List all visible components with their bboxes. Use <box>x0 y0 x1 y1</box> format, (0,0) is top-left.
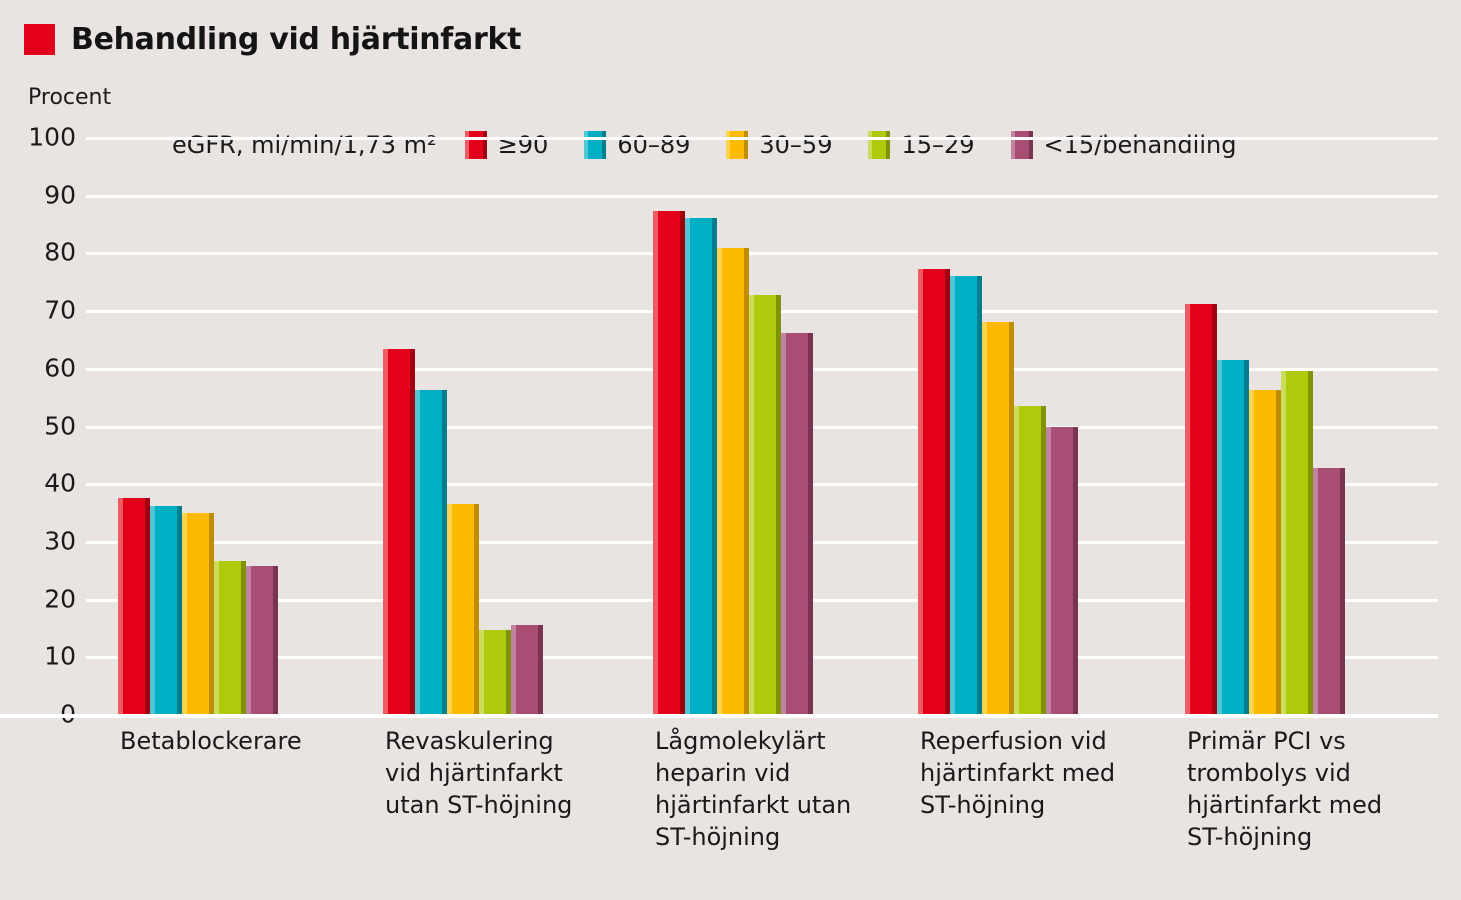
bar-shadow-edge <box>808 333 813 714</box>
x-axis-category-label: Reperfusion vidhjärtinfarkt medST-höjnin… <box>920 726 1150 822</box>
bar[interactable] <box>1313 468 1345 714</box>
bar[interactable] <box>447 504 479 714</box>
page-title: Behandling vid hjärtinfarkt <box>71 22 521 57</box>
bar-highlight-edge <box>118 498 123 714</box>
bar[interactable] <box>214 561 246 714</box>
bar[interactable] <box>511 625 543 714</box>
bar[interactable] <box>479 630 511 714</box>
x-axis-label-line: hjärtinfarkt med <box>1187 790 1437 822</box>
x-axis-label-line: trombolys vid <box>1187 758 1437 790</box>
y-axis-tick-label: 90 <box>6 180 76 209</box>
bar[interactable] <box>918 269 950 714</box>
bar-highlight-edge <box>1313 468 1318 714</box>
bar[interactable] <box>182 513 214 714</box>
bar-highlight-edge <box>950 276 955 714</box>
y-axis-tick-label: 10 <box>6 642 76 671</box>
bar-highlight-edge <box>415 390 420 714</box>
chart-header: Behandling vid hjärtinfarkt <box>24 22 521 57</box>
bar-group <box>653 137 813 714</box>
bar-group <box>1185 137 1345 714</box>
bar-shadow-edge <box>273 566 278 714</box>
bar-group <box>383 137 543 714</box>
bar-group <box>918 137 1078 714</box>
bar[interactable] <box>982 322 1014 714</box>
bar-highlight-edge <box>182 513 187 714</box>
y-axis-tick-label: 20 <box>6 584 76 613</box>
bar-shadow-edge <box>1073 427 1078 714</box>
x-axis-label-line: ST-höjning <box>920 790 1150 822</box>
y-axis-tick-label: 50 <box>6 411 76 440</box>
bar-highlight-edge <box>246 566 251 714</box>
bar[interactable] <box>383 349 415 714</box>
bar-highlight-edge <box>150 506 155 714</box>
bar[interactable] <box>1014 406 1046 714</box>
x-axis-label-line: Primär PCI vs <box>1187 726 1437 758</box>
x-axis-label-line: Lågmolekylärt <box>655 726 895 758</box>
y-axis-tick-label: 70 <box>6 296 76 325</box>
bar[interactable] <box>781 333 813 714</box>
bar[interactable] <box>415 390 447 714</box>
x-axis-label-line: Revaskulering <box>385 726 615 758</box>
x-axis-label-line: utan ST-höjning <box>385 790 615 822</box>
bar-highlight-edge <box>749 295 754 714</box>
bar-highlight-edge <box>1281 371 1286 714</box>
x-axis-category-label: Lågmolekylärtheparin vidhjärtinfarkt uta… <box>655 726 895 854</box>
x-axis-label-line: hjärtinfarkt utan <box>655 790 895 822</box>
bar[interactable] <box>653 211 685 714</box>
bar[interactable] <box>246 566 278 714</box>
x-axis-category-label: Revaskuleringvid hjärtinfarktutan ST-höj… <box>385 726 615 822</box>
bar-highlight-edge <box>982 322 987 714</box>
y-axis-tick-label: 80 <box>6 238 76 267</box>
y-axis-tick-label: 60 <box>6 353 76 382</box>
x-axis-label-line: ST-höjning <box>655 822 895 854</box>
bar[interactable] <box>1046 427 1078 714</box>
x-axis-label-line: Betablockerare <box>120 726 370 758</box>
plot-area: 1009080706050403020100 <box>86 137 1438 714</box>
bar[interactable] <box>1281 371 1313 714</box>
x-axis-label-line: heparin vid <box>655 758 895 790</box>
y-axis-tick-label: 100 <box>6 123 76 152</box>
x-axis-label-line: hjärtinfarkt med <box>920 758 1150 790</box>
x-axis-label-line: ST-höjning <box>1187 822 1437 854</box>
bar-highlight-edge <box>1217 360 1222 714</box>
bar[interactable] <box>118 498 150 714</box>
bar[interactable] <box>1185 304 1217 714</box>
bar-highlight-edge <box>479 630 484 714</box>
bar[interactable] <box>749 295 781 714</box>
x-axis-label-line: vid hjärtinfarkt <box>385 758 615 790</box>
bar-highlight-edge <box>447 504 452 714</box>
bar-highlight-edge <box>1014 406 1019 714</box>
bar-highlight-edge <box>781 333 786 714</box>
bar-highlight-edge <box>511 625 516 714</box>
bar-highlight-edge <box>1249 390 1254 714</box>
bar-highlight-edge <box>1185 304 1190 714</box>
title-marker-icon <box>24 24 55 55</box>
x-axis-label-line: Reperfusion vid <box>920 726 1150 758</box>
bar-highlight-edge <box>383 349 388 714</box>
bar-highlight-edge <box>717 248 722 714</box>
y-axis-tick-label: 40 <box>6 469 76 498</box>
bar[interactable] <box>950 276 982 714</box>
y-axis-unit-label: Procent <box>28 85 111 110</box>
y-axis-tick-label: 30 <box>6 526 76 555</box>
bar-highlight-edge <box>653 211 658 714</box>
bar-shadow-edge <box>538 625 543 714</box>
bar[interactable] <box>717 248 749 714</box>
bar[interactable] <box>685 218 717 714</box>
bar[interactable] <box>1249 390 1281 714</box>
x-axis-category-label: Betablockerare <box>120 726 370 758</box>
x-axis-category-label: Primär PCI vstrombolys vidhjärtinfarkt m… <box>1187 726 1437 854</box>
bar-highlight-edge <box>1046 427 1051 714</box>
bar-highlight-edge <box>685 218 690 714</box>
bar-highlight-edge <box>214 561 219 714</box>
chart-root: Behandling vid hjärtinfarkt Procent eGFR… <box>0 0 1461 900</box>
bar[interactable] <box>150 506 182 714</box>
bar-shadow-edge <box>1340 468 1345 714</box>
axis-baseline <box>0 714 1438 718</box>
bar-highlight-edge <box>918 269 923 714</box>
bar[interactable] <box>1217 360 1249 714</box>
bar-group <box>118 137 278 714</box>
